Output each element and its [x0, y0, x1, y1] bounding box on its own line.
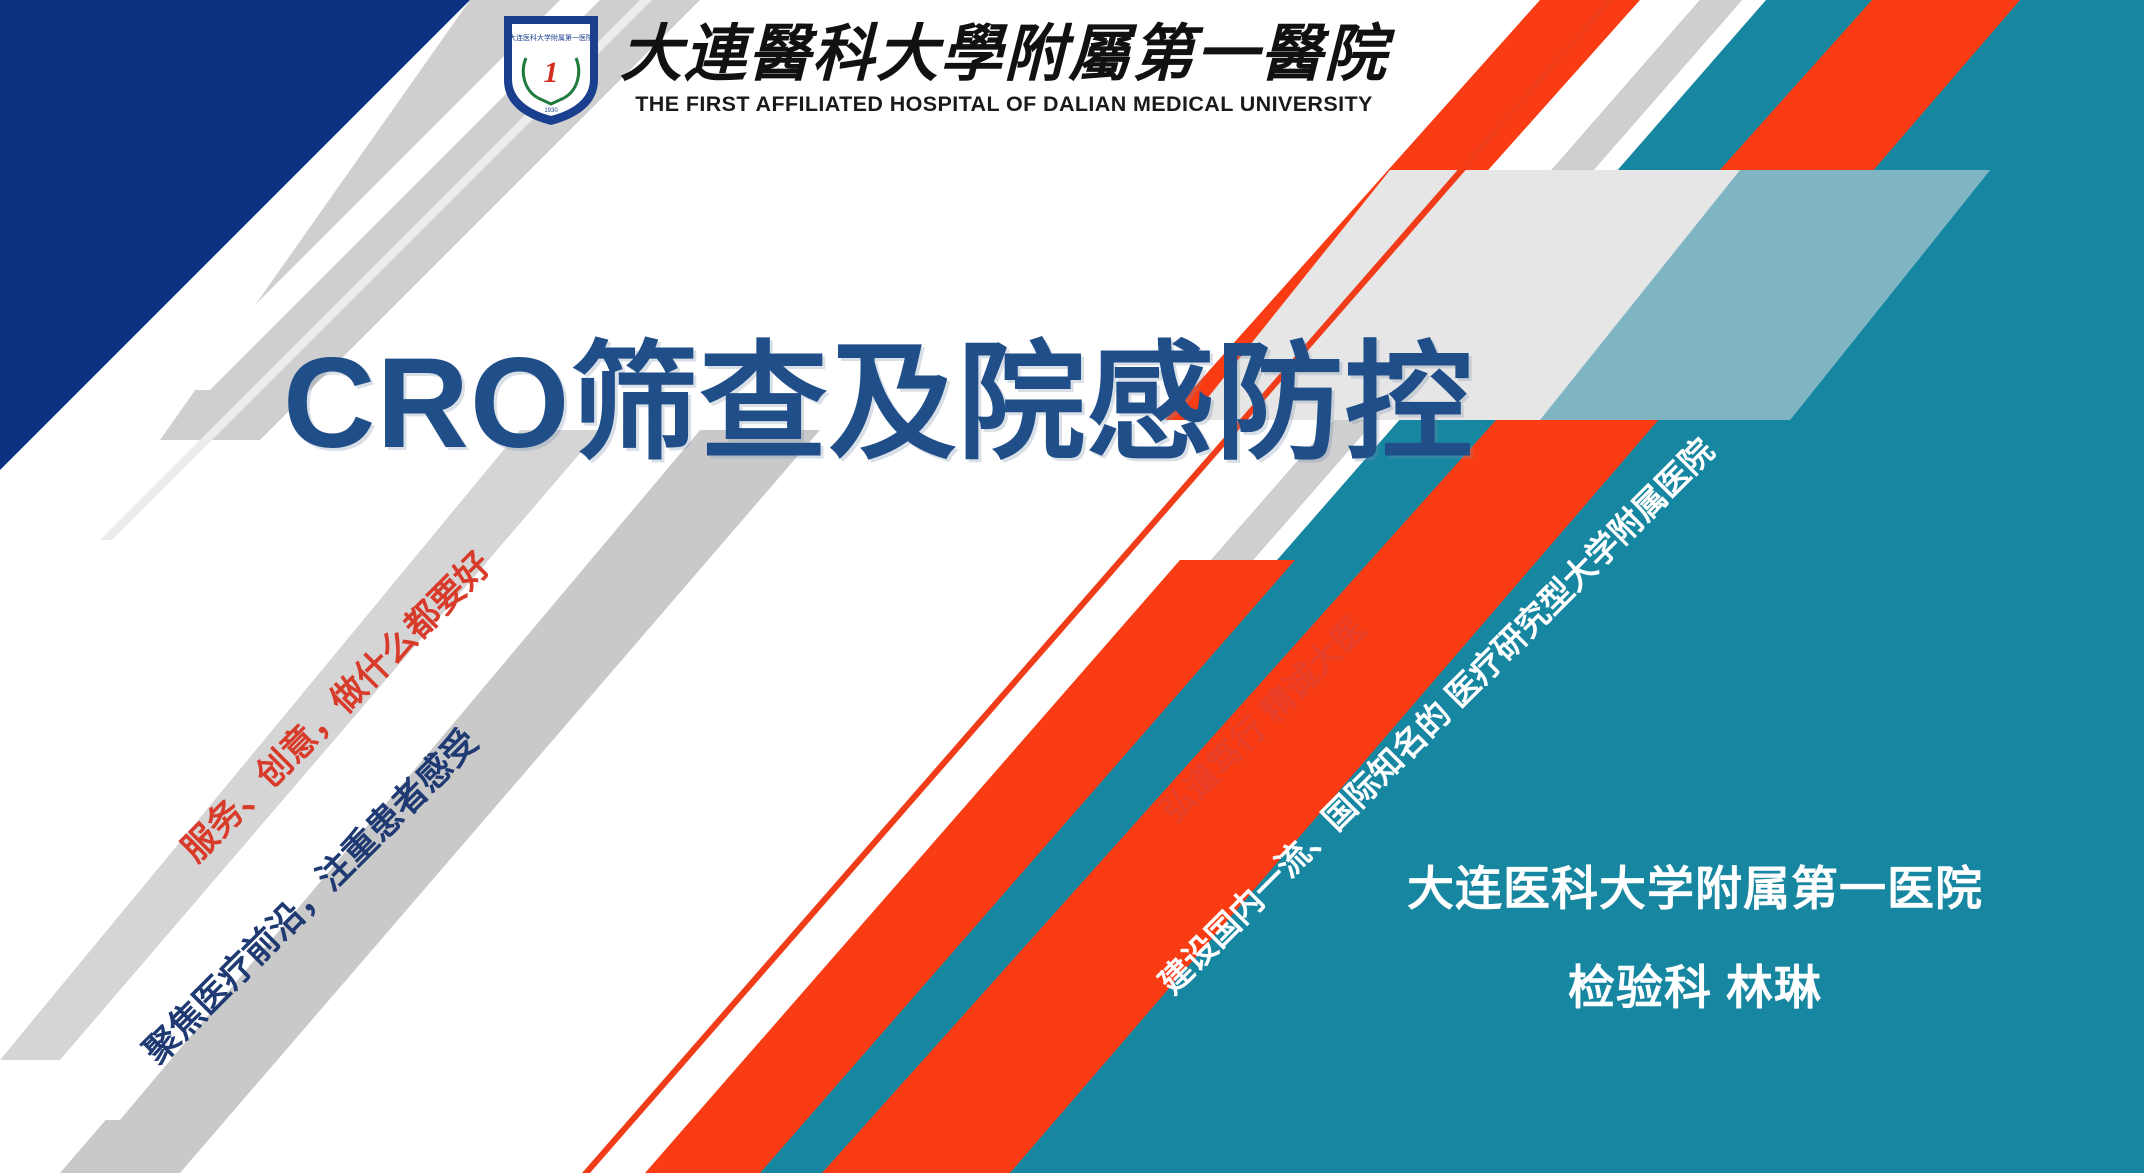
hospital-logo: 大连医科大学附属第一医院 1 1930 大連醫科大學附屬第一醫院 THE FIR… [500, 10, 1388, 128]
presenter-name: 检验科 林琳 [1385, 949, 2005, 1018]
hospital-name-en: THE FIRST AFFILIATED HOSPITAL OF DALIAN … [635, 92, 1372, 117]
hospital-name-cn: 大連醫科大學附屬第一醫院 [620, 21, 1388, 90]
presentation-slide: 大连医科大学附属第一医院 1 1930 大連醫科大學附屬第一醫院 THE FIR… [0, 0, 2144, 1173]
slide-title: CRO筛查及院感防控 [283, 330, 1473, 477]
svg-text:1930: 1930 [544, 108, 558, 114]
hospital-shield-emblem-icon: 大连医科大学附属第一医院 1 1930 [500, 10, 602, 128]
presenter-organization: 大连医科大学附属第一医院 [1385, 850, 2005, 919]
svg-text:1: 1 [544, 56, 559, 89]
presenter-block: 大连医科大学附属第一医院 检验科 林琳 [1385, 850, 2005, 1018]
svg-text:大连医科大学附属第一医院: 大连医科大学附属第一医院 [509, 33, 593, 42]
logo-text-block: 大連醫科大學附屬第一醫院 THE FIRST AFFILIATED HOSPIT… [620, 21, 1388, 117]
